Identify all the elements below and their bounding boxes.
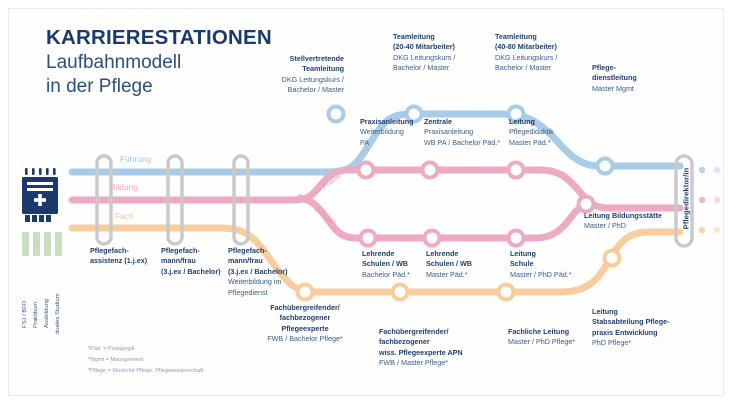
footnote-2: *Mgmt = Management (88, 355, 203, 366)
node-label-fach-2: Fachübergreifender/ fachbezogener wiss. … (379, 327, 497, 369)
fa1-s1: FWB / Bachelor Pflege* (247, 334, 363, 344)
p2-b1: Zentrale (424, 117, 510, 127)
fa2-s1: FWB / Master Pflege* (379, 358, 497, 368)
f2-b1: Teamleitung (393, 32, 497, 42)
entry-pathway-labels: FSJ / BFD Praktikum Ausbildung duales St… (14, 258, 72, 336)
entry-pathway-bars (20, 232, 66, 256)
station-label-1: Pflegefach- assistenz (1.j.ex) (90, 246, 166, 267)
p1-b1: Praxisanleitung (360, 117, 422, 127)
terminal-station: Pflegedirektor/in (676, 156, 696, 246)
fa1-b3: Pflegeexperte (247, 324, 363, 334)
f2-s2: Bachelor / Master (393, 63, 497, 73)
line-label-fuehrung: Führung (120, 154, 151, 164)
fa4-b2: Stabsabteilung Pflege- (592, 317, 692, 327)
f1-s1: DKG Leitungskurs / (252, 75, 344, 85)
f2-b2: (20-40 Mitarbeiter) (393, 42, 497, 52)
node-label-schulen-2: Lehrende Schulen / WB Master Päd.* (426, 249, 490, 280)
station-3-sub2: Pflegedienst (228, 288, 308, 298)
f3-b1: Teamleitung (495, 32, 599, 42)
fa4-b1: Leitung (592, 307, 692, 317)
fa1-b2: fachbezogener (247, 313, 363, 323)
p1-s2: PA (360, 138, 422, 148)
fa3-s1: Master / PhD Pflege* (508, 337, 598, 347)
node-label-fuehrung-1: Stellvertretende Teamleitung DKG Leitung… (252, 54, 344, 96)
node-label-praxis-3: Leitung Pflegedidaktik Master Päd.* (509, 117, 585, 148)
node-label-schulen-3: Leitung Schule Master / PhD Päd.* (510, 249, 590, 280)
node-label-praxis-1: Praxisanleitung Weiterbildung PA (360, 117, 422, 148)
f1-s2: Bachelor / Master (252, 85, 344, 95)
s3-s1: Schule (510, 259, 590, 269)
s2-s2: Master Päd.* (426, 270, 490, 280)
f3-s2: Bachelor / Master (495, 63, 599, 73)
station-1-line2: assistenz (1.j.ex) (90, 256, 166, 266)
f1-b1: Stellvertretende (252, 54, 344, 64)
s1-s1: Schulen / WB (362, 259, 426, 269)
node-label-schulen-1: Lehrende Schulen / WB Bachelor Päd.* (362, 249, 426, 280)
entry-label-duales: duales Studium (55, 293, 61, 334)
node-label-fuehrung-3: Teamleitung (40-80 Mitarbeiter) DKG Leit… (495, 32, 599, 74)
station-1-line1: Pflegefach- (90, 246, 166, 256)
s1-b1: Lehrende (362, 249, 426, 259)
fa4-b3: praxis Entwicklung (592, 328, 692, 338)
fa2-b2: fachbezogener (379, 337, 497, 347)
node-label-praxis-2: Zentrale Praxisanleitung WB PA / Bachelo… (424, 117, 510, 148)
hospital-building-icon (20, 168, 64, 228)
p2-s2: WB PA / Bachelor Päd.* (424, 138, 510, 148)
station-3-line2: mann/frau (228, 256, 308, 266)
footnote-1: *Päd. = Pädagogik (88, 344, 203, 355)
entry-label-praktikum: Praktikum (33, 302, 39, 328)
entry-label-ausbildung: Ausbildung (44, 299, 50, 328)
s2-s1: Schulen / WB (426, 259, 490, 269)
f2-s1: DKG Leitungskurs / (393, 53, 497, 63)
node-label-fuehrung-2: Teamleitung (20-40 Mitarbeiter) DKG Leit… (393, 32, 497, 74)
station-3-sub1: Weiterbildung im (228, 277, 308, 287)
entry-label-fsj: FSJ / BFD (22, 301, 28, 328)
f4-s1: Master Mgmt (592, 84, 682, 94)
f3-s1: DKG Leitungskurs / (495, 53, 599, 63)
title-main: KARRIERESTATIONEN (46, 26, 346, 50)
footnotes: *Päd. = Pädagogik *Mgmt = Management *Pf… (88, 344, 203, 378)
p1-s1: Weiterbildung (360, 127, 422, 137)
f4-b1: Pflege- (592, 63, 682, 73)
station-3-line3: (3.j.ex / Bachelor) (228, 267, 308, 277)
be-s1: Master / PhD (584, 221, 684, 231)
p3-s1: Pflegedidaktik (509, 127, 585, 137)
infographic-canvas: .trk{fill:none;stroke-linecap:round;stro… (0, 0, 730, 402)
s2-b1: Lehrende (426, 249, 490, 259)
line-label-fach: Fach (115, 211, 134, 221)
footnote-3: *Pflege = Klinische Pflege, Pflegewissen… (88, 366, 203, 377)
station-label-3: Pflegefach- mann/frau (3.j.ex / Bachelor… (228, 246, 308, 298)
p2-s1: Praxisanleitung (424, 127, 510, 137)
f3-b2: (40-80 Mitarbeiter) (495, 42, 599, 52)
station-3-line1: Pflegefach- (228, 246, 308, 256)
f1-b2: Teamleitung (252, 64, 344, 74)
p3-s2: Master Päd.* (509, 138, 585, 148)
node-label-bildung-end: Leitung Bildungsstätte Master / PhD (584, 211, 684, 232)
s1-s2: Bachelor Päd.* (362, 270, 426, 280)
fa4-s1: PhD Pflege* (592, 338, 692, 348)
node-label-fach-1: Fachübergreifender/ fachbezogener Pflege… (247, 303, 363, 345)
f4-b2: dienstleitung (592, 73, 682, 83)
s3-b1: Leitung (510, 249, 590, 259)
node-label-fach-3: Fachliche Leitung Master / PhD Pflege* (508, 327, 598, 348)
node-label-fuehrung-4: Pflege- dienstleitung Master Mgmt (592, 63, 682, 94)
fa2-b1: Fachübergreifender/ (379, 327, 497, 337)
fa1-b1: Fachübergreifender/ (247, 303, 363, 313)
fa3-b1: Fachliche Leitung (508, 327, 598, 337)
line-label-bildung: Bildung (110, 182, 138, 192)
terminal-label: Pflegedirektor/in (682, 164, 691, 234)
fa2-b3: wiss. Pflegeexperte APN (379, 348, 497, 358)
p3-b1: Leitung (509, 117, 585, 127)
be-b1: Leitung Bildungsstätte (584, 211, 684, 221)
node-label-fach-4: Leitung Stabsabteilung Pflege- praxis En… (592, 307, 692, 349)
s3-s2: Master / PhD Päd.* (510, 270, 590, 280)
